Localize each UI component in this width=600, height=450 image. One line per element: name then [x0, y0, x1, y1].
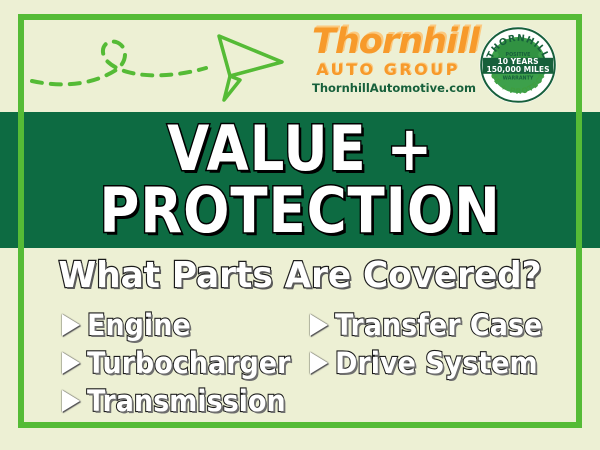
logo-website-url: ThornhillAutomotive.com	[312, 82, 464, 95]
badge-lower-label: WARRANTY	[503, 75, 534, 81]
coverage-section: What Parts Are Covered? Engine Turbochar…	[0, 248, 600, 428]
coverage-columns: Engine Turbocharger Transmission Transfe…	[0, 306, 600, 420]
triangle-bullet-icon	[62, 352, 80, 374]
header-area: Thornhill AUTO GROUP ThornhillAutomotive…	[0, 0, 600, 112]
coverage-item-label: Drive System	[335, 347, 538, 379]
list-item: Turbocharger	[62, 344, 300, 382]
paper-plane-icon	[219, 36, 282, 100]
coverage-item-label: Transmission	[87, 385, 286, 417]
headline-line-1: VALUE +	[167, 119, 433, 179]
triangle-bullet-icon	[310, 352, 328, 374]
list-item: Engine	[62, 306, 300, 344]
dashed-loop-path	[32, 42, 206, 85]
coverage-column-left: Engine Turbocharger Transmission	[0, 306, 300, 420]
flight-path-graphic	[24, 18, 324, 108]
list-item: Transfer Case	[310, 306, 600, 344]
headline-line-2: PROTECTION	[99, 181, 500, 241]
headline-banner: VALUE + PROTECTION	[0, 112, 600, 248]
coverage-question: What Parts Are Covered?	[15, 256, 585, 296]
logo-subtitle: AUTO GROUP	[312, 61, 464, 78]
list-item: Transmission	[62, 382, 300, 420]
logo-wordmark: Thornhill	[312, 24, 464, 60]
thornhill-logo: Thornhill AUTO GROUP ThornhillAutomotive…	[312, 24, 464, 104]
promo-graphic: Thornhill AUTO GROUP ThornhillAutomotive…	[0, 0, 600, 450]
triangle-bullet-icon	[62, 390, 80, 412]
badge-miles-text: 150,000 MILES	[486, 65, 549, 74]
triangle-bullet-icon	[62, 314, 80, 336]
coverage-item-label: Engine	[87, 309, 191, 341]
coverage-item-label: Turbocharger	[87, 347, 290, 379]
coverage-column-right: Transfer Case Drive System	[300, 306, 600, 420]
triangle-bullet-icon	[310, 314, 328, 336]
list-item: Drive System	[310, 344, 600, 382]
warranty-badge: THORNHILL VALUE + PROTECTION POSITIVE 10…	[478, 25, 558, 105]
coverage-item-label: Transfer Case	[335, 309, 542, 341]
